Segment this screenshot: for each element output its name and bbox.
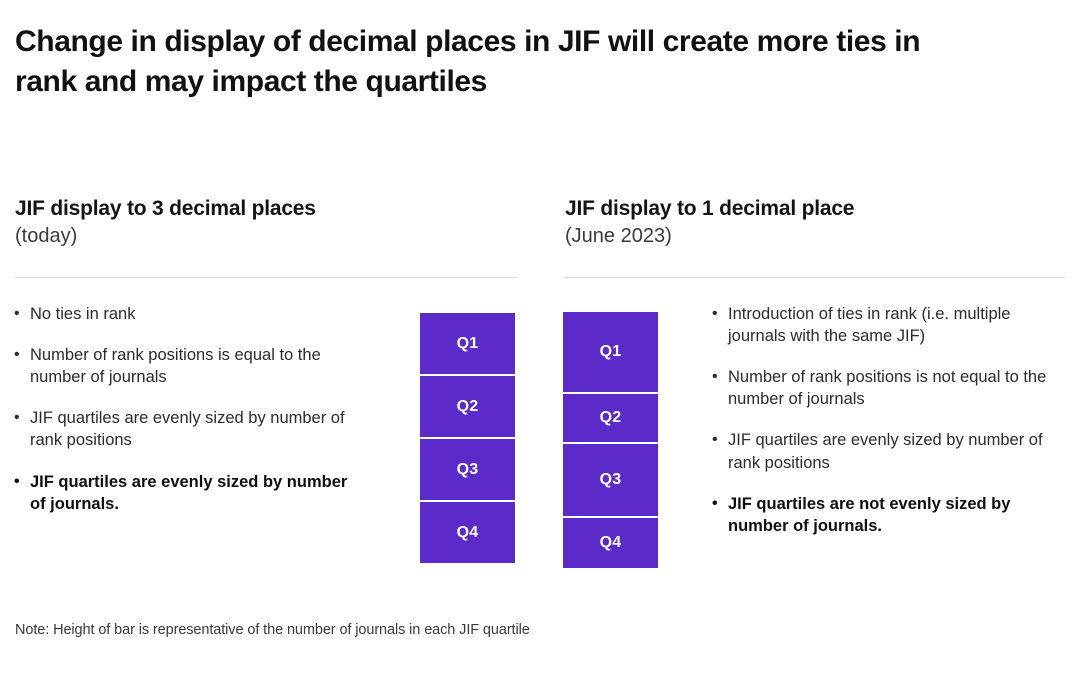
right-column-heading: JIF display to 1 decimal place (565, 196, 1070, 221)
right-bullet-list: • Introduction of ties in rank (i.e. mul… (712, 303, 1067, 556)
bullet-dot-icon: • (14, 344, 30, 388)
jif-1-decimal-place-bar: Q1 Q2 Q3 Q4 (563, 312, 658, 568)
left-column-subheading: (today) (15, 224, 520, 249)
list-item: • JIF quartiles are evenly sized by numb… (14, 407, 354, 451)
bar-segment-q1: Q1 (563, 312, 658, 394)
list-item-label: Number of rank positions is equal to the… (30, 344, 354, 388)
right-column-subheading: (June 2023) (565, 224, 1070, 249)
list-item-emphasized: • JIF quartiles are evenly sized by numb… (14, 471, 354, 515)
bullet-dot-icon: • (14, 471, 30, 515)
left-column-divider (15, 277, 518, 278)
list-item: • No ties in rank (14, 303, 354, 325)
left-column-heading: JIF display to 3 decimal places (15, 196, 520, 221)
left-bullet-list: • No ties in rank • Number of rank posit… (14, 303, 354, 534)
footnote: Note: Height of bar is representative of… (15, 622, 530, 638)
list-item-label: JIF quartiles are evenly sized by number… (30, 471, 354, 515)
bar-segment-q3: Q3 (420, 439, 515, 502)
bullet-dot-icon: • (712, 429, 728, 473)
list-item: • Introduction of ties in rank (i.e. mul… (712, 303, 1067, 347)
bar-segment-q4: Q4 (563, 518, 658, 568)
left-column-header: JIF display to 3 decimal places (today) (15, 196, 520, 249)
bullet-dot-icon: • (14, 303, 30, 325)
page-title: Change in display of decimal places in J… (15, 22, 935, 102)
list-item-label: Introduction of ties in rank (i.e. multi… (728, 303, 1067, 347)
list-item-label: JIF quartiles are not evenly sized by nu… (728, 493, 1067, 537)
bullet-dot-icon: • (712, 303, 728, 347)
jif-3-decimal-places-bar: Q1 Q2 Q3 Q4 (420, 313, 515, 563)
right-column-header: JIF display to 1 decimal place (June 202… (565, 196, 1070, 249)
list-item-label: Number of rank positions is not equal to… (728, 366, 1067, 410)
bar-segment-q1: Q1 (420, 313, 515, 376)
bar-segment-q4: Q4 (420, 502, 515, 563)
right-column-divider (565, 277, 1065, 278)
bullet-dot-icon: • (14, 407, 30, 451)
list-item: • Number of rank positions is not equal … (712, 366, 1067, 410)
bullet-dot-icon: • (712, 493, 728, 537)
list-item-label: No ties in rank (30, 303, 354, 325)
list-item: • JIF quartiles are evenly sized by numb… (712, 429, 1067, 473)
bar-segment-q2: Q2 (420, 376, 515, 439)
bullet-dot-icon: • (712, 366, 728, 410)
list-item: • Number of rank positions is equal to t… (14, 344, 354, 388)
list-item-emphasized: • JIF quartiles are not evenly sized by … (712, 493, 1067, 537)
list-item-label: JIF quartiles are evenly sized by number… (30, 407, 354, 451)
bar-segment-q3: Q3 (563, 444, 658, 519)
list-item-label: JIF quartiles are evenly sized by number… (728, 429, 1067, 473)
bar-segment-q2: Q2 (563, 394, 658, 444)
